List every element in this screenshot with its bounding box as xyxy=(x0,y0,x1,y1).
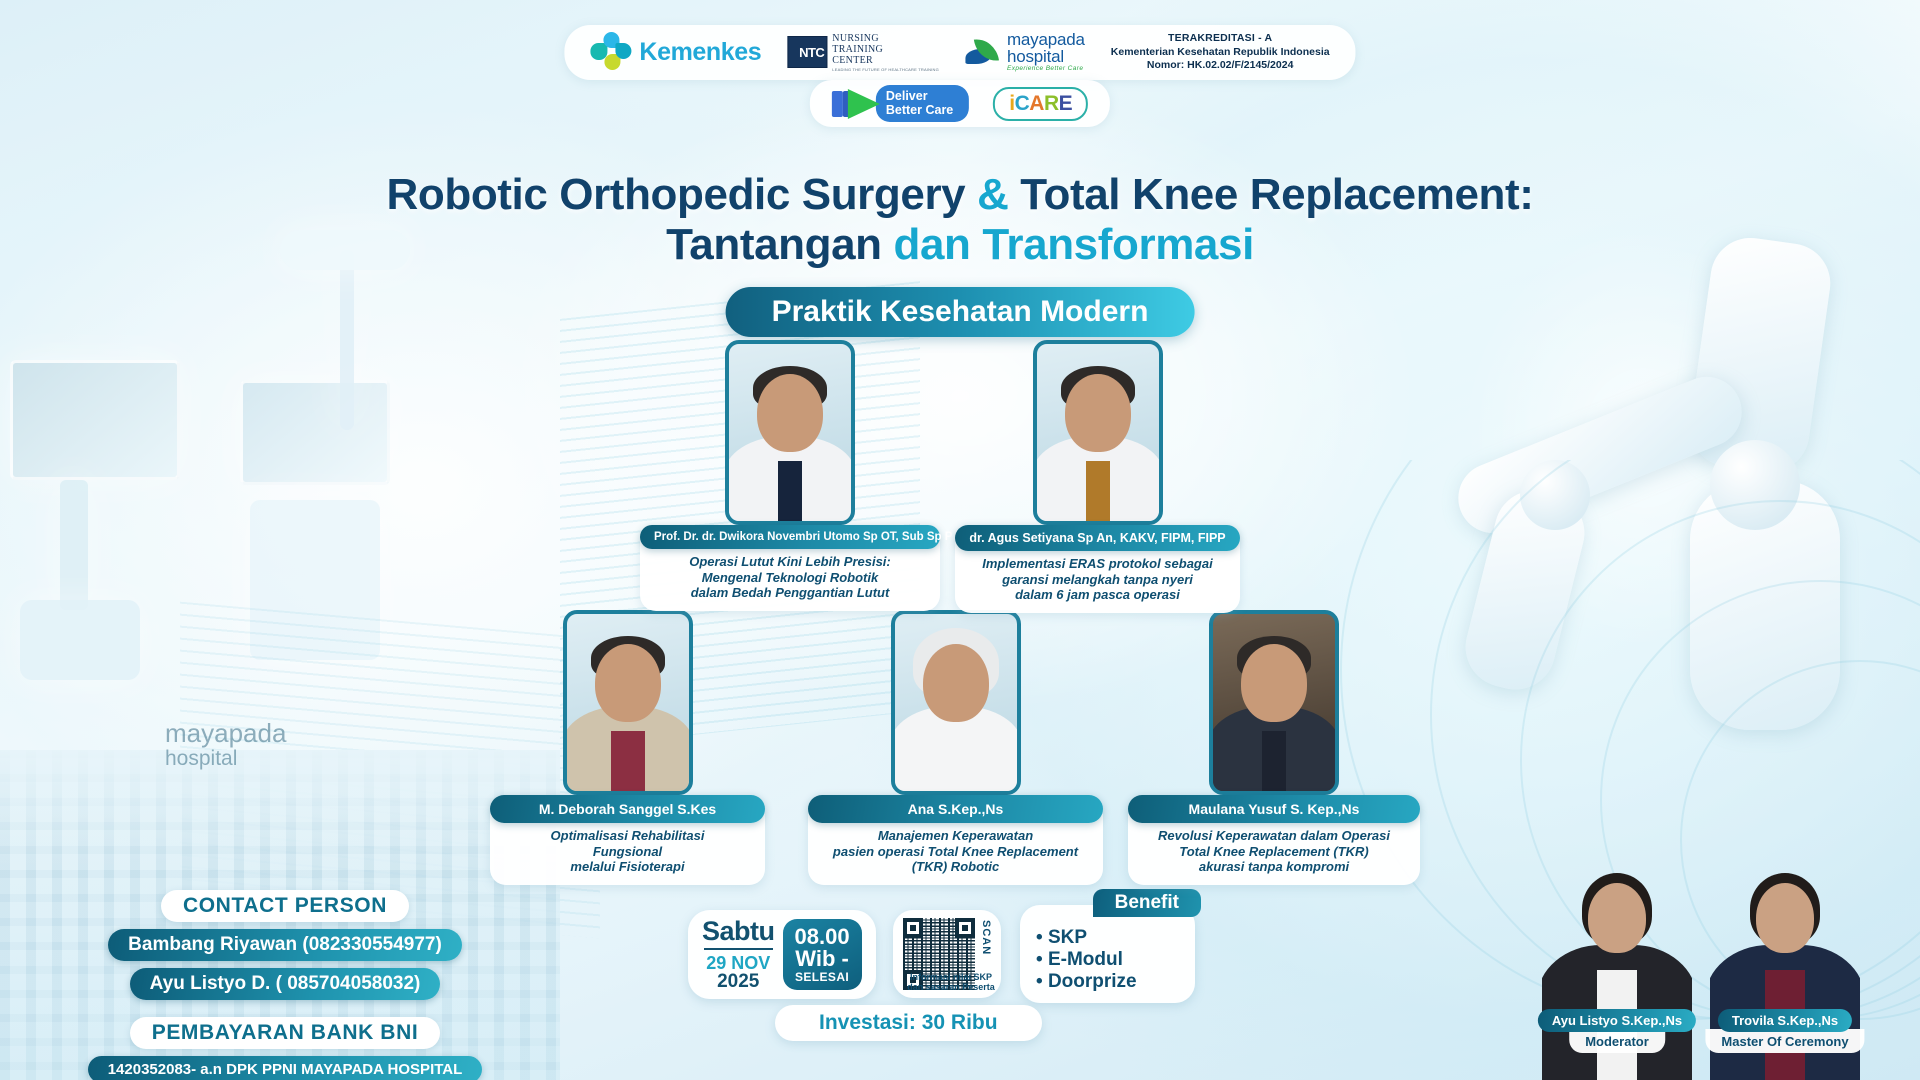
kemenkes-logo: Kemenkes xyxy=(590,32,761,72)
mayapada-tagline: Experience Better Care xyxy=(1007,66,1085,72)
mayapada-line2: hospital xyxy=(1007,49,1085,66)
date-time-card: Sabtu 29 NOV 2025 08.00 Wib - SELESAI xyxy=(688,910,876,999)
title-part-tantangan: Tantangan xyxy=(666,220,882,269)
icare-c: C xyxy=(1015,92,1030,116)
equipment-base-left xyxy=(20,600,140,680)
ntc-logo: NTC NURSING TRAINING CENTER LEADING THE … xyxy=(787,33,939,73)
benefit-item: E-Modul xyxy=(1036,949,1173,971)
event-date: 29 NOV xyxy=(702,954,775,972)
ntc-tagline: LEADING THE FUTURE OF HEALTHCARE TRAININ… xyxy=(832,67,939,72)
title-part-tkr: Total Knee Replacement: xyxy=(1020,170,1533,219)
kemenkes-label: Kemenkes xyxy=(639,38,761,67)
ntc-line1: NURSING xyxy=(832,33,939,44)
host-role: Master Of Ceremony xyxy=(1705,1029,1864,1053)
equipment-arm-pole xyxy=(340,250,354,430)
contact-person-1: Bambang Riyawan (082330554977) xyxy=(108,929,462,961)
qr-scan-label: SCAN xyxy=(980,920,991,955)
deliver-better-care-badge: Deliver Better Care xyxy=(832,85,969,122)
title-amp: & xyxy=(965,170,1020,219)
event-day: Sabtu xyxy=(702,918,775,945)
topic-line-2: Fungsional xyxy=(502,844,753,860)
icare-r: R xyxy=(1044,92,1059,116)
mayapada-logo: mayapada hospital Experience Better Care xyxy=(965,32,1085,73)
topic-line-3: melalui Fisioterapi xyxy=(502,859,753,875)
qr-note-line1: Informasi nilai SKP xyxy=(903,972,999,982)
equipment-stand-left xyxy=(60,480,88,610)
host-card-mc: Trovila S.Kep.,Ns Master Of Ceremony xyxy=(1710,865,1860,1080)
topic-line-1: Manajemen Keperawatan xyxy=(820,828,1091,844)
equipment-monitor-second xyxy=(240,380,390,485)
title-part-transformasi: Transformasi xyxy=(982,220,1254,269)
ntc-shield-icon: NTC xyxy=(787,36,827,68)
speaker-card-agus: dr. Agus Setiyana Sp An, KAKV, FIPM, FIP… xyxy=(955,340,1240,613)
ntc-line2: TRAINING xyxy=(832,44,939,55)
watermark-line2: hospital xyxy=(165,747,286,771)
date-divider xyxy=(704,948,773,950)
time-block: 08.00 Wib - SELESAI xyxy=(783,919,862,990)
accreditation-line2: Kementerian Kesehatan Republik Indonesia xyxy=(1111,46,1330,60)
investasi-pill: Investasi: 30 Ribu xyxy=(775,1005,1042,1041)
contact-section: CONTACT PERSON Bambang Riyawan (08233055… xyxy=(75,890,495,1080)
qr-note: Informasi nilai SKP dan sasaran Peserta xyxy=(903,972,999,992)
topic-line-2: Total Knee Replacement (TKR) xyxy=(1140,844,1408,860)
watermark-line1: mayapada xyxy=(165,720,286,747)
topic-line-1: Optimalisasi Rehabilitasi xyxy=(502,828,753,844)
deliver-line2: Better Care xyxy=(886,104,953,118)
event-time-wib: Wib - xyxy=(795,948,850,970)
speaker-photo xyxy=(725,340,855,525)
mayapada-watermark: mayapada hospital xyxy=(165,720,286,771)
icare-badge: i C A R E xyxy=(993,87,1088,121)
topic-line-3: (TKR) Robotic xyxy=(820,859,1091,875)
speaker-photo xyxy=(1033,340,1163,525)
title-line-2: Tantangan dan Transformasi xyxy=(0,220,1920,270)
host-name: Ayu Listyo S.Kep.,Ns xyxy=(1538,1009,1696,1032)
topic-line-3: akurasi tanpa kompromi xyxy=(1140,859,1408,875)
speaker-name: Maulana Yusuf S. Kep.,Ns xyxy=(1128,795,1420,823)
mayapada-leaf-icon xyxy=(965,38,1001,66)
title-line-1: Robotic Orthopedic Surgery & Total Knee … xyxy=(0,170,1920,220)
ntc-line3: CENTER xyxy=(832,55,939,66)
speaker-topic: Optimalisasi Rehabilitasi Fungsional mel… xyxy=(490,814,765,885)
speaker-photo xyxy=(563,610,693,795)
speaker-name: Prof. Dr. dr. Dwikora Novembri Utomo Sp … xyxy=(640,525,940,549)
qr-note-line2: dan sasaran Peserta xyxy=(903,982,999,992)
host-role: Moderator xyxy=(1569,1029,1665,1053)
mayapada-wordmark: mayapada hospital Experience Better Care xyxy=(1007,32,1085,73)
topic-line-2: Mengenal Teknologi Robotik xyxy=(652,570,928,586)
topic-line-2: garansi melangkah tanpa nyeri xyxy=(967,572,1228,588)
deliver-better-care-text: Deliver Better Care xyxy=(876,85,969,122)
speaker-card-deborah: M. Deborah Sanggel S.Kes Optimalisasi Re… xyxy=(490,610,765,885)
event-year: 2025 xyxy=(702,972,775,991)
accreditation-block: TERAKREDITASI - A Kementerian Kesehatan … xyxy=(1111,32,1330,73)
deliver-line1: Deliver xyxy=(886,90,953,104)
accreditation-line3: Nomor: HK.02.02/F/2145/2024 xyxy=(1111,59,1330,73)
qr-card[interactable]: SCAN Informasi nilai SKP dan sasaran Pes… xyxy=(893,910,1001,998)
subtitle-banner: Praktik Kesehatan Modern xyxy=(726,287,1195,337)
benefit-item: Doorprize xyxy=(1036,971,1173,993)
speaker-name: M. Deborah Sanggel S.Kes xyxy=(490,795,765,823)
icare-a: A xyxy=(1029,92,1044,116)
poster-root: mayapada hospital Kemenkes NTC NURSING T… xyxy=(0,0,1920,1080)
host-name: Trovila S.Kep.,Ns xyxy=(1718,1009,1852,1032)
icare-e: E xyxy=(1059,92,1073,116)
host-card-moderator: Ayu Listyo S.Kep.,Ns Moderator xyxy=(1542,865,1692,1080)
topic-line-3: dalam 6 jam pasca operasi xyxy=(967,587,1228,603)
payment-heading: PEMBAYARAN BANK BNI xyxy=(130,1017,441,1049)
topic-line-2: pasien operasi Total Knee Replacement xyxy=(820,844,1091,860)
ntc-wordmark: NURSING TRAINING CENTER LEADING THE FUTU… xyxy=(832,33,939,73)
topic-line-1: Revolusi Keperawatan dalam Operasi xyxy=(1140,828,1408,844)
speaker-card-ana: Ana S.Kep.,Ns Manajemen Keperawatan pasi… xyxy=(808,610,1103,885)
topic-line-1: Implementasi ERAS protokol sebagai xyxy=(967,556,1228,572)
speaker-topic: Revolusi Keperawatan dalam Operasi Total… xyxy=(1128,814,1420,885)
speaker-topic: Manajemen Keperawatan pasien operasi Tot… xyxy=(808,814,1103,885)
event-time-hour: 08.00 xyxy=(795,926,850,948)
kemenkes-icon xyxy=(590,32,632,72)
contact-heading: CONTACT PERSON xyxy=(161,890,409,922)
speaker-topic: Implementasi ERAS protokol sebagai garan… xyxy=(955,542,1240,613)
payment-account: 1420352083- a.n DPK PPNI MAYAPADA HOSPIT… xyxy=(88,1056,483,1080)
speaker-name: Ana S.Kep.,Ns xyxy=(808,795,1103,823)
speaker-card-dwikora: Prof. Dr. dr. Dwikora Novembri Utomo Sp … xyxy=(640,340,940,611)
contact-person-2: Ayu Listyo D. ( 085704058032) xyxy=(130,968,441,1000)
topic-line-3: dalam Bedah Penggantian Lutut xyxy=(652,585,928,601)
benefit-card: Benefit SKP E-Modul Doorprize xyxy=(1020,905,1195,1003)
logo-bar-secondary: Deliver Better Care i C A R E xyxy=(810,80,1110,127)
page-title: Robotic Orthopedic Surgery & Total Knee … xyxy=(0,170,1920,270)
speaker-photo xyxy=(891,610,1021,795)
speaker-photo xyxy=(1209,610,1339,795)
speaker-topic: Operasi Lutut Kini Lebih Presisi: Mengen… xyxy=(640,540,940,611)
speaker-name: dr. Agus Setiyana Sp An, KAKV, FIPM, FIP… xyxy=(955,525,1240,551)
benefit-list: SKP E-Modul Doorprize xyxy=(1036,927,1173,993)
speaker-card-maulana: Maulana Yusuf S. Kep.,Ns Revolusi Kepera… xyxy=(1128,610,1420,885)
event-time-end: SELESAI xyxy=(795,971,850,983)
benefit-title: Benefit xyxy=(1093,889,1201,917)
title-part-robotic: Robotic Orthopedic Surgery xyxy=(386,170,965,219)
topic-line-1: Operasi Lutut Kini Lebih Presisi: xyxy=(652,554,928,570)
equipment-monitor-left xyxy=(10,360,180,480)
date-block: Sabtu 29 NOV 2025 xyxy=(702,918,775,991)
arrow-icon xyxy=(832,89,884,119)
accreditation-line1: TERAKREDITASI - A xyxy=(1111,32,1330,46)
logo-bar-primary: Kemenkes NTC NURSING TRAINING CENTER LEA… xyxy=(564,25,1355,80)
title-part-dan: dan xyxy=(882,220,983,269)
ntc-abbr: NTC xyxy=(799,45,824,60)
benefit-item: SKP xyxy=(1036,927,1173,949)
